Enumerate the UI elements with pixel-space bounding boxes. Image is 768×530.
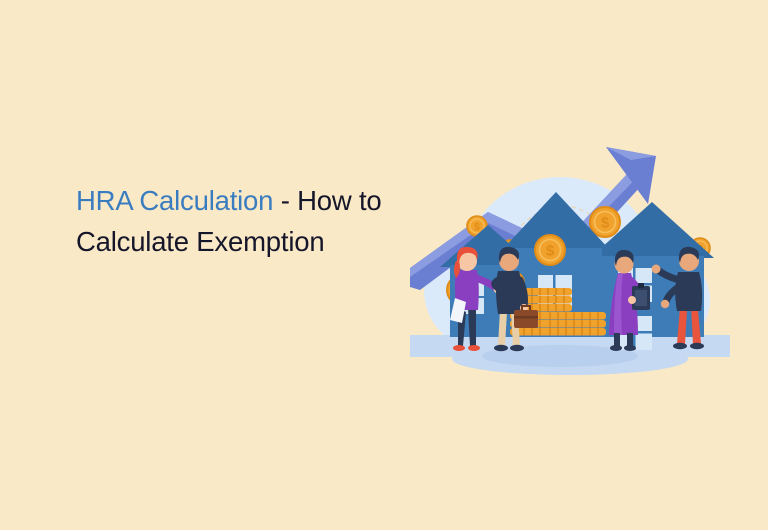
page-title-accent: HRA Calculation xyxy=(76,185,273,216)
real-estate-growth-illustration: $ $ xyxy=(410,130,730,392)
banner-root: HRA Calculation - How to Calculate Exemp… xyxy=(0,0,768,530)
page-title: HRA Calculation - How to Calculate Exemp… xyxy=(76,180,406,262)
